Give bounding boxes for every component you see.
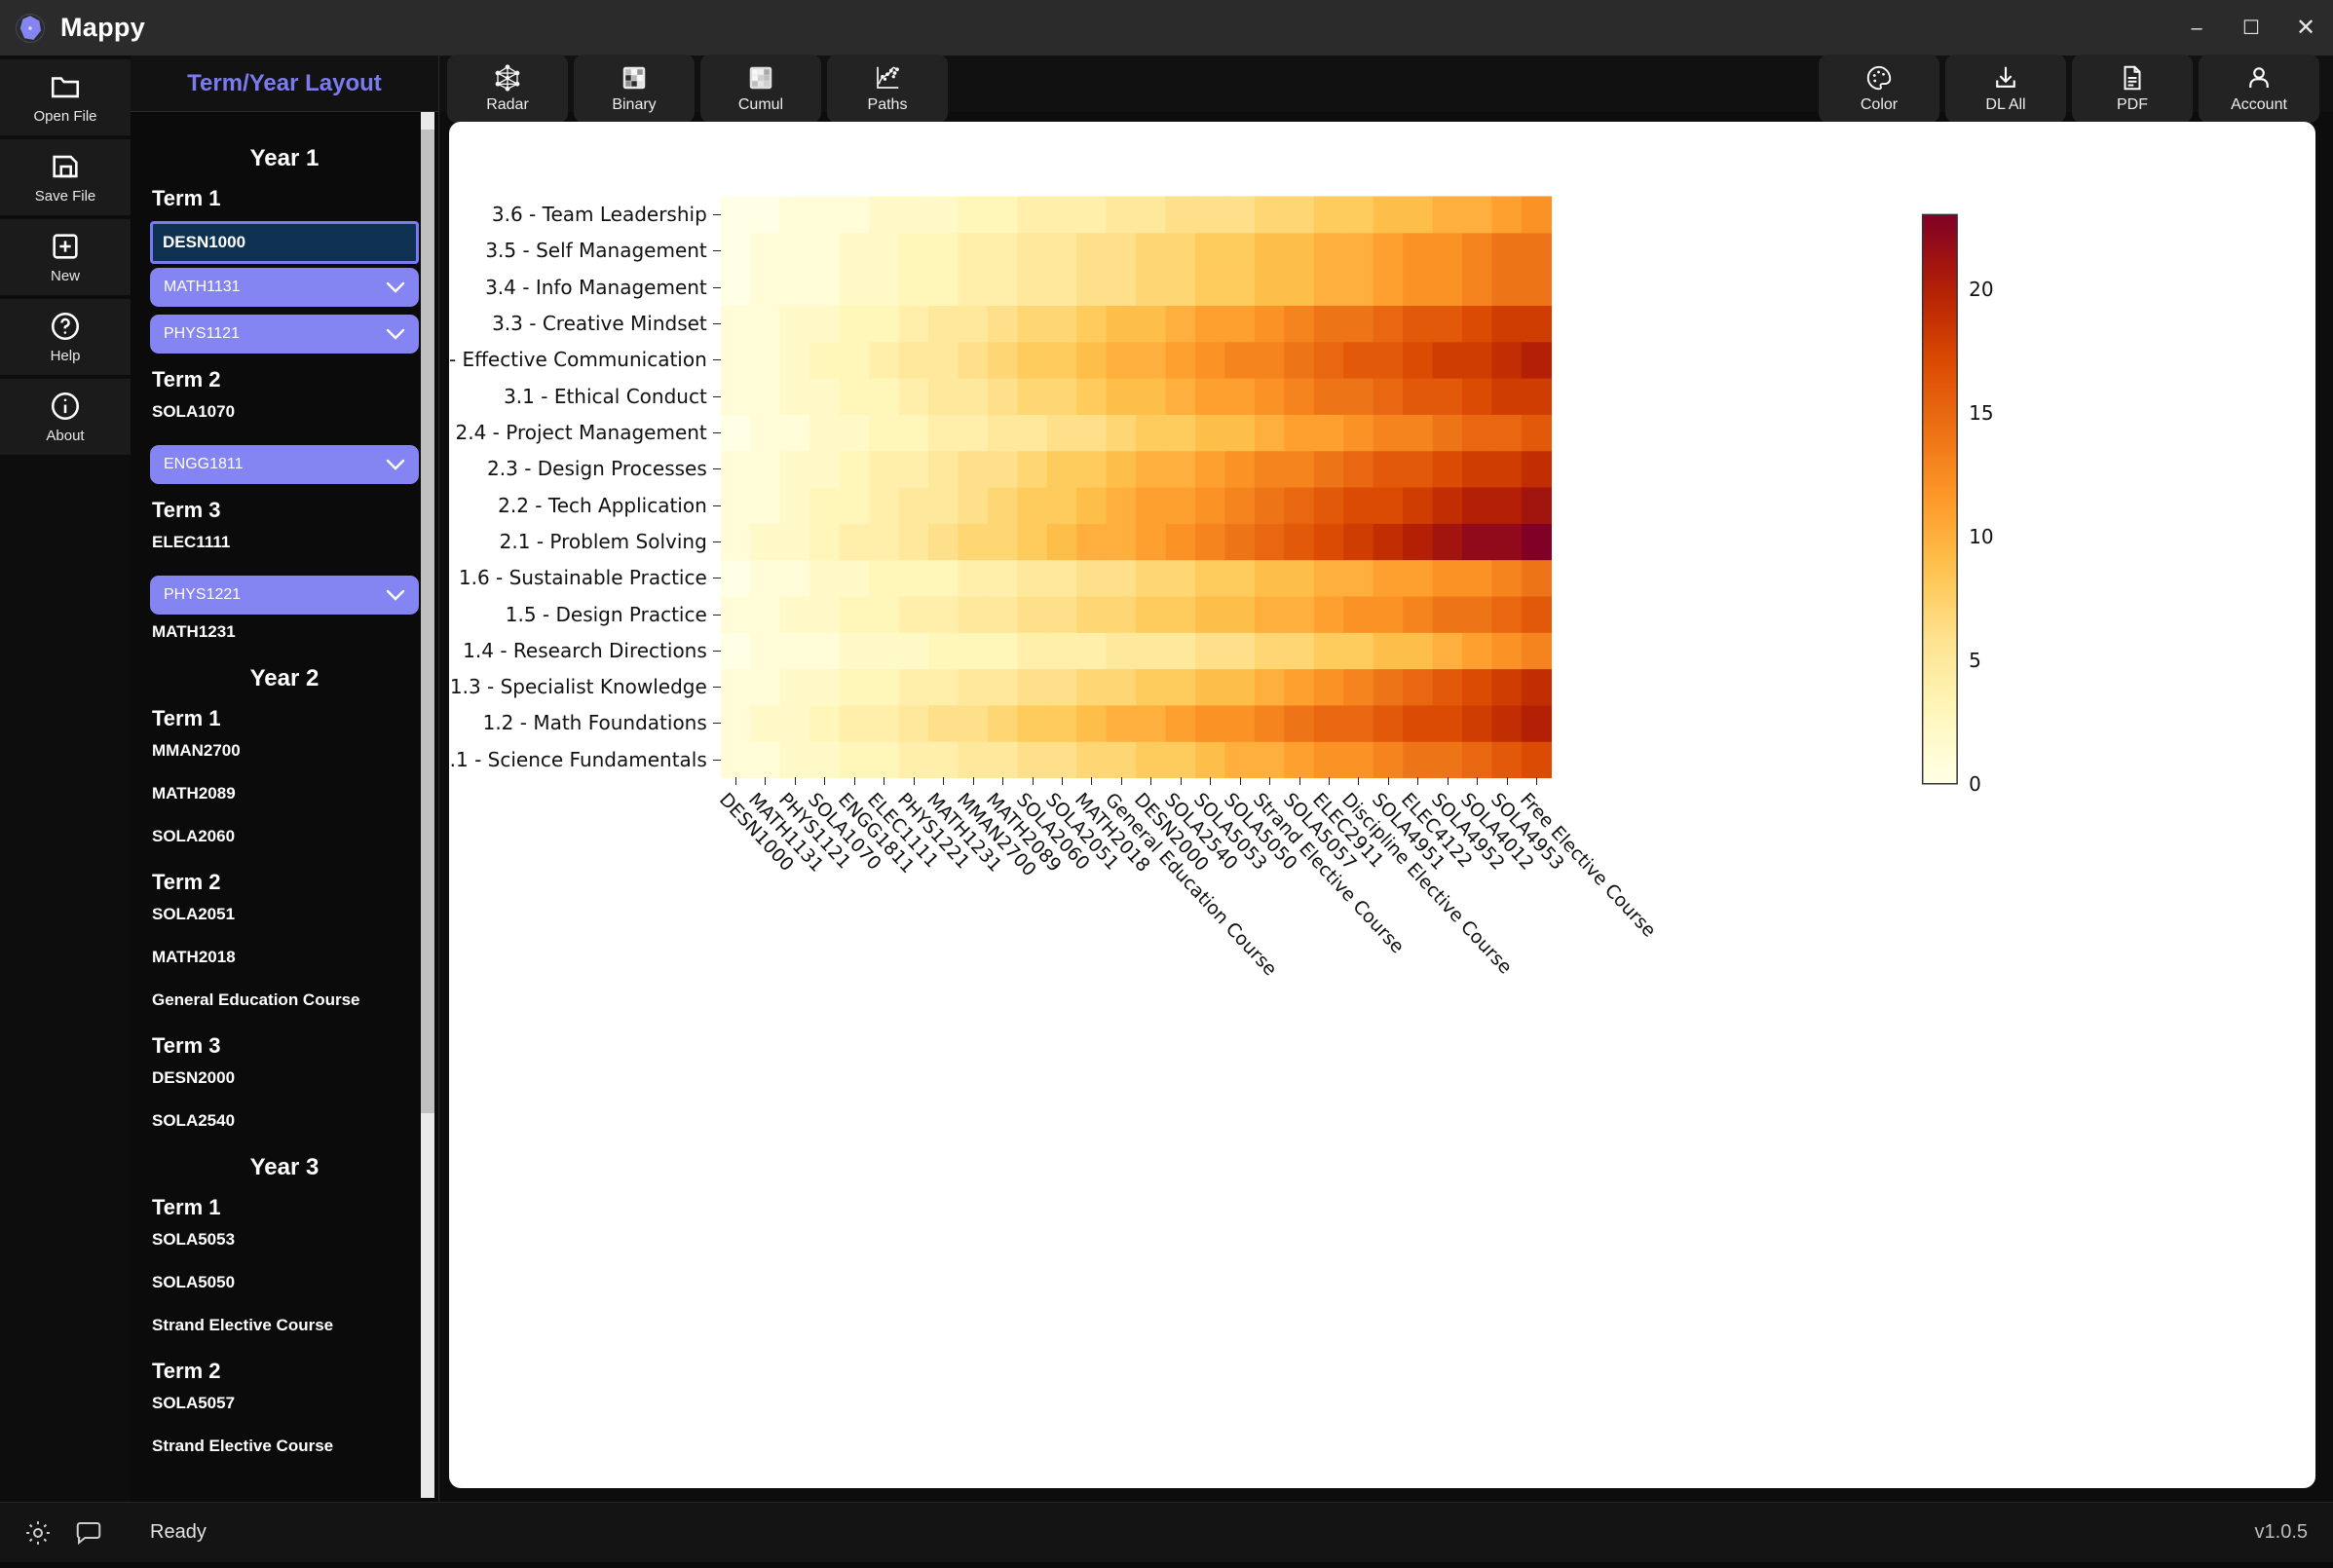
heatmap-cell xyxy=(1491,414,1522,451)
floppy-disk-icon xyxy=(49,150,82,183)
heatmap-cell xyxy=(1491,196,1522,233)
heatmap-cell xyxy=(928,596,959,633)
heatmap-cell xyxy=(898,342,928,379)
heatmap-cell xyxy=(1373,741,1404,778)
course-item[interactable]: MATH2089 xyxy=(152,784,419,803)
heatmap-cell xyxy=(1403,741,1433,778)
chat-bubble-icon[interactable] xyxy=(74,1518,103,1548)
heatmap-y-tick xyxy=(713,651,721,652)
heatmap-cell xyxy=(869,632,899,669)
heatmap-cell xyxy=(1107,632,1137,669)
heatmap-cell xyxy=(809,378,840,415)
heatmap-cell xyxy=(780,414,810,451)
heatmap-y-tick xyxy=(713,432,721,433)
heatmap-cell xyxy=(928,523,959,560)
heatmap-cell xyxy=(1047,414,1077,451)
heatmap-cell xyxy=(958,269,988,306)
toolbar-button-pdf[interactable]: PDF xyxy=(2072,55,2193,123)
heatmap-cell xyxy=(1107,269,1137,306)
sidebar-scroll-area[interactable]: Year 1Term 1DESN1000MATH1131PHYS1121Term… xyxy=(131,112,438,1502)
heatmap-cell xyxy=(721,632,751,669)
course-dropdown-label: ENGG1811 xyxy=(164,456,244,473)
heatmap-cell xyxy=(958,669,988,706)
course-item[interactable]: General Education Course xyxy=(152,990,419,1010)
heatmap-cell xyxy=(1491,451,1522,488)
app-window: Mappy – ☐ ✕ Open File Save File xyxy=(0,0,2333,1568)
heatmap-cell xyxy=(721,451,751,488)
heatmap-y-label: 2.1 - Problem Solving xyxy=(500,530,707,553)
heatmap-cell xyxy=(809,487,840,524)
heatmap-cell xyxy=(840,596,870,633)
heatmap-cell xyxy=(928,705,959,742)
heatmap-cell xyxy=(1017,269,1047,306)
folder-icon xyxy=(49,70,82,103)
heatmap-cell xyxy=(958,741,988,778)
heatmap-cell xyxy=(1017,560,1047,597)
heatmap-cell xyxy=(1433,632,1463,669)
heatmap-x-tick xyxy=(854,777,855,785)
sidebar-year-title: Year 1 xyxy=(150,145,419,172)
heatmap-cell xyxy=(1047,632,1077,669)
heatmap-cell xyxy=(928,632,959,669)
heatmap-cell xyxy=(1343,705,1373,742)
heatmap-cell xyxy=(1522,378,1552,415)
heatmap-cell xyxy=(1166,705,1196,742)
heatmap-cell xyxy=(721,523,751,560)
heatmap-cell xyxy=(1462,523,1492,560)
heatmap-cell xyxy=(928,669,959,706)
heatmap-cell xyxy=(988,596,1018,633)
heatmap-cell xyxy=(1522,269,1552,306)
heatmap-cell xyxy=(780,669,810,706)
heatmap-cell xyxy=(1314,342,1344,379)
heatmap-cell xyxy=(1522,632,1552,669)
course-item[interactable]: MATH1231 xyxy=(152,622,419,642)
heatmap-cell xyxy=(750,741,780,778)
heatmap-cell xyxy=(721,414,751,451)
heatmap-cell xyxy=(1491,632,1522,669)
course-item[interactable]: Strand Elective Course xyxy=(152,1316,419,1335)
heatmap-cell xyxy=(1017,378,1047,415)
heatmap-cell xyxy=(1166,342,1196,379)
heatmap-cell xyxy=(1491,741,1522,778)
heatmap-x-tick xyxy=(765,777,766,785)
heatmap-cell xyxy=(1314,523,1344,560)
heatmap-cell xyxy=(1314,632,1344,669)
course-item[interactable]: SOLA2060 xyxy=(152,827,419,846)
heatmap-cell xyxy=(1343,414,1373,451)
heatmap-cell xyxy=(1522,342,1552,379)
heatmap-cell xyxy=(750,669,780,706)
heatmap-cell xyxy=(1522,560,1552,597)
heatmap-cell xyxy=(1403,378,1433,415)
heatmap-cell xyxy=(809,669,840,706)
heatmap-cell xyxy=(721,487,751,524)
heatmap-x-tick xyxy=(1358,777,1359,785)
document-icon xyxy=(2118,63,2147,93)
heatmap-cell xyxy=(1314,196,1344,233)
heatmap-cell xyxy=(809,741,840,778)
heatmap-cell xyxy=(840,196,870,233)
heatmap-cell xyxy=(1403,196,1433,233)
heatmap-cell xyxy=(1136,632,1166,669)
heatmap-cell xyxy=(1314,705,1344,742)
heatmap-cell xyxy=(840,741,870,778)
heatmap-x-tick xyxy=(1299,777,1300,785)
heatmap-cell xyxy=(1166,378,1196,415)
heatmap-cell xyxy=(869,523,899,560)
heatmap-x-tick xyxy=(824,777,825,785)
heatmap-cell xyxy=(721,269,751,306)
heatmap-cell xyxy=(1314,596,1344,633)
toolbar-button-cumul[interactable]: Cumul xyxy=(700,55,821,123)
heatmap-cell xyxy=(1017,705,1047,742)
heatmap-cell xyxy=(1224,196,1255,233)
heatmap-cell xyxy=(1373,451,1404,488)
heatmap-cell xyxy=(1136,451,1166,488)
heatmap-y-label: 3.4 - Info Management xyxy=(485,276,707,299)
heatmap-cell xyxy=(958,596,988,633)
heatmap-cell xyxy=(1314,305,1344,342)
heatmap-cell xyxy=(898,378,928,415)
heatmap-cell xyxy=(1373,342,1404,379)
toolbar-button-radar[interactable]: Radar xyxy=(447,55,568,123)
heatmap-cell xyxy=(869,669,899,706)
heatmap-cell xyxy=(1076,451,1107,488)
heatmap-cell xyxy=(1224,560,1255,597)
heatmap-cell xyxy=(1284,378,1314,415)
heatmap-plot[interactable]: 1.1 - Science Fundamentals1.2 - Math Fou… xyxy=(449,122,2315,1488)
heatmap-x-tick xyxy=(1002,777,1003,785)
heatmap-cell xyxy=(988,669,1018,706)
heatmap-cell xyxy=(958,414,988,451)
heatmap-cell xyxy=(1522,741,1552,778)
heatmap-cell xyxy=(721,378,751,415)
rail-item-help[interactable]: Help xyxy=(0,299,131,375)
heatmap-cell xyxy=(1166,451,1196,488)
heatmap-cell xyxy=(928,196,959,233)
heatmap-cell xyxy=(1166,596,1196,633)
heatmap-cell xyxy=(809,523,840,560)
heatmap-cell xyxy=(1433,487,1463,524)
heatmap-cell xyxy=(1017,632,1047,669)
heatmap-cell xyxy=(780,523,810,560)
heatmap-cell xyxy=(780,705,810,742)
heatmap-cell xyxy=(780,196,810,233)
toolbar-button-binary[interactable]: Binary xyxy=(574,55,695,123)
heatmap-cell xyxy=(1462,196,1492,233)
heatmap-cell xyxy=(809,305,840,342)
body-row: Open File Save File New H xyxy=(0,56,2333,1502)
heatmap-x-tick xyxy=(914,777,915,785)
heatmap-cell xyxy=(898,269,928,306)
heatmap-cell xyxy=(1076,523,1107,560)
heatmap-cell xyxy=(1107,414,1137,451)
heatmap-cell xyxy=(928,378,959,415)
course-dropdown[interactable]: ENGG1811 xyxy=(150,445,419,484)
heatmap-cell xyxy=(1491,669,1522,706)
heatmap-cell xyxy=(869,269,899,306)
sidebar-year-title: Year 3 xyxy=(150,1154,419,1181)
heatmap-cell xyxy=(840,451,870,488)
heatmap-x-tick xyxy=(1033,777,1034,785)
heatmap-cell xyxy=(1107,741,1137,778)
heatmap-cell xyxy=(1433,269,1463,306)
heatmap-cell xyxy=(1195,451,1225,488)
toolbar-left-group: Radar xyxy=(447,45,948,123)
heatmap-cell xyxy=(1224,269,1255,306)
heatmap-cell xyxy=(1076,669,1107,706)
heatmap-cell xyxy=(1076,741,1107,778)
heatmap-cell xyxy=(1403,705,1433,742)
main-area: Radar xyxy=(439,56,2333,1502)
heatmap-cell xyxy=(1373,560,1404,597)
heatmap-cell xyxy=(898,487,928,524)
course-item[interactable]: DESN2000 xyxy=(152,1068,419,1088)
heatmap-cell xyxy=(1166,305,1196,342)
heatmap-cell xyxy=(898,705,928,742)
heatmap-cell xyxy=(958,342,988,379)
heatmap-cell xyxy=(809,342,840,379)
heatmap-cell xyxy=(1255,378,1285,415)
course-item[interactable]: SOLA5057 xyxy=(152,1394,419,1413)
heatmap-cell xyxy=(1403,523,1433,560)
heatmap-x-tick xyxy=(1240,777,1241,785)
heatmap-cell xyxy=(750,305,780,342)
heatmap-cell xyxy=(1076,414,1107,451)
heatmap-cell xyxy=(1343,741,1373,778)
heatmap-cell xyxy=(898,560,928,597)
heatmap-y-label: 2.3 - Design Processes xyxy=(487,457,707,480)
heatmap-y-tick xyxy=(713,287,721,288)
course-item-selected[interactable]: DESN1000 xyxy=(150,221,419,264)
heatmap-x-tick xyxy=(1448,777,1449,785)
heatmap-y-label: 3.5 - Self Management xyxy=(485,239,706,262)
course-item[interactable]: ELEC1111 xyxy=(152,533,419,552)
heatmap-cell xyxy=(1047,196,1077,233)
heatmap-cell xyxy=(988,523,1018,560)
colorbar-tick-label: 0 xyxy=(1969,772,1981,796)
heatmap-cell xyxy=(1522,669,1552,706)
heatmap-cell xyxy=(1491,342,1522,379)
toolbar-button-color[interactable]: Color xyxy=(1819,55,1939,123)
heatmap-cell xyxy=(750,523,780,560)
heatmap-cell xyxy=(1343,196,1373,233)
heatmap-cell xyxy=(1195,669,1225,706)
rail-item-save-file[interactable]: Save File xyxy=(0,139,131,215)
heatmap-x-tick xyxy=(1091,777,1092,785)
sidebar-term-title: Term 1 xyxy=(152,706,419,731)
heatmap-cell xyxy=(1224,305,1255,342)
heatmap-cell xyxy=(1403,342,1433,379)
heatmap-cell xyxy=(1047,233,1077,270)
radar-blob-logo-icon xyxy=(14,12,47,45)
heatmap-x-tick xyxy=(1150,777,1151,785)
info-circle-icon xyxy=(49,390,82,423)
heatmap-cell xyxy=(869,487,899,524)
rail-label-help: Help xyxy=(51,348,81,364)
heatmap-cell xyxy=(928,414,959,451)
course-item[interactable]: SOLA5053 xyxy=(152,1230,419,1250)
course-item[interactable]: MMAN2700 xyxy=(152,741,419,761)
course-item[interactable]: SOLA5050 xyxy=(152,1273,419,1292)
heatmap-cell xyxy=(1284,414,1314,451)
rail-item-open-file[interactable]: Open File xyxy=(0,59,131,135)
course-item[interactable]: SOLA1070 xyxy=(152,402,419,422)
radar-network-icon xyxy=(493,63,522,93)
heatmap-y-tick xyxy=(713,250,721,251)
course-item[interactable]: Strand Elective Course xyxy=(152,1437,419,1456)
heatmap-cell xyxy=(1195,305,1225,342)
heatmap-cell xyxy=(1373,596,1404,633)
course-item[interactable]: SOLA2051 xyxy=(152,905,419,924)
heatmap-cell xyxy=(898,451,928,488)
heatmap-cell xyxy=(1255,596,1285,633)
cumulative-grid-icon xyxy=(746,63,775,93)
heatmap-cell xyxy=(928,487,959,524)
heatmap-cell xyxy=(1284,669,1314,706)
heatmap-cell xyxy=(1522,451,1552,488)
toolbar-button-dl-all[interactable]: DL All xyxy=(1945,55,2066,123)
heatmap-cell xyxy=(1462,741,1492,778)
toolbar-button-account[interactable]: Account xyxy=(2199,55,2319,123)
heatmap-cell xyxy=(1433,196,1463,233)
chevron-down-icon xyxy=(386,589,405,601)
heatmap-cell xyxy=(780,596,810,633)
bottom-strip xyxy=(0,1562,2333,1568)
heatmap-cell xyxy=(721,741,751,778)
heatmap-cell xyxy=(840,342,870,379)
course-dropdown[interactable]: PHYS1121 xyxy=(150,315,419,354)
heatmap-cell xyxy=(780,741,810,778)
heatmap-cell xyxy=(750,705,780,742)
heatmap-cell xyxy=(1047,451,1077,488)
paths-scatter-icon xyxy=(873,63,902,93)
heatmap-cell xyxy=(1255,305,1285,342)
heatmap-cell xyxy=(1343,560,1373,597)
heatmap-y-label: 1.2 - Math Foundations xyxy=(483,711,707,734)
heatmap-cell xyxy=(1195,560,1225,597)
heatmap-cell xyxy=(898,596,928,633)
heatmap-cell xyxy=(1076,632,1107,669)
heatmap-cell xyxy=(750,560,780,597)
heatmap-cell xyxy=(1076,196,1107,233)
heatmap-y-tick xyxy=(713,359,721,360)
heatmap-cell xyxy=(988,342,1018,379)
heatmap-cell xyxy=(1433,705,1463,742)
heatmap-cell xyxy=(840,305,870,342)
toolbar: Radar xyxy=(439,56,2333,112)
heatmap-cell xyxy=(1284,305,1314,342)
heatmap-cell xyxy=(1284,632,1314,669)
course-dropdown[interactable]: MATH1131 xyxy=(150,268,419,307)
heatmap-cell xyxy=(1017,741,1047,778)
rail-label-open-file: Open File xyxy=(33,108,96,125)
heatmap-cell xyxy=(1047,487,1077,524)
status-bar: Ready v1.0.5 xyxy=(0,1502,2333,1562)
heatmap-y-label: 3.2 - Effective Communication xyxy=(449,348,707,371)
course-dropdown[interactable]: PHYS1221 xyxy=(150,576,419,615)
app-logo xyxy=(0,12,60,45)
heatmap-cell xyxy=(1373,378,1404,415)
heatmap-cell xyxy=(1107,233,1137,270)
heatmap-cell xyxy=(1462,560,1492,597)
heatmap-cell xyxy=(1255,342,1285,379)
heatmap-cell xyxy=(1107,378,1137,415)
left-rail: Open File Save File New H xyxy=(0,56,131,1502)
heatmap-cell xyxy=(928,342,959,379)
rail-item-about[interactable]: About xyxy=(0,379,131,455)
heatmap-cell xyxy=(1166,196,1196,233)
heatmap-cell xyxy=(1224,596,1255,633)
course-item[interactable]: SOLA2540 xyxy=(152,1111,419,1131)
gear-icon[interactable] xyxy=(23,1518,53,1548)
heatmap-x-tick xyxy=(884,777,884,785)
heatmap-cell xyxy=(1491,487,1522,524)
heatmap-cell xyxy=(988,560,1018,597)
heatmap-x-tick xyxy=(943,777,944,785)
heatmap-cell xyxy=(1255,560,1285,597)
heatmap-cell xyxy=(869,560,899,597)
chevron-down-icon xyxy=(386,459,405,470)
rail-item-new[interactable]: New xyxy=(0,219,131,295)
heatmap-x-tick xyxy=(735,777,736,785)
heatmap-cell xyxy=(1047,523,1077,560)
heatmap-cell xyxy=(1224,451,1255,488)
heatmap-cell xyxy=(1017,305,1047,342)
heatmap-cell xyxy=(1373,233,1404,270)
heatmap-cell xyxy=(1017,451,1047,488)
heatmap-y-label: 3.6 - Team Leadership xyxy=(492,203,707,226)
heatmap-cell xyxy=(1491,523,1522,560)
colorbar-tick-label: 5 xyxy=(1969,649,1981,672)
course-item[interactable]: MATH2018 xyxy=(152,948,419,967)
sidebar: Term/Year Layout Year 1Term 1DESN1000MAT… xyxy=(131,56,439,1502)
heatmap-cell xyxy=(721,233,751,270)
course-dropdown-label: MATH1131 xyxy=(164,279,241,296)
sidebar-term-title: Term 1 xyxy=(152,1195,419,1220)
heatmap-cell xyxy=(1284,233,1314,270)
heatmap-cell xyxy=(1224,523,1255,560)
heatmap-cell xyxy=(869,414,899,451)
heatmap-cell xyxy=(1284,523,1314,560)
heatmap-cell xyxy=(840,705,870,742)
heatmap-cell xyxy=(958,305,988,342)
heatmap-cell xyxy=(958,705,988,742)
heatmap-cell xyxy=(1522,596,1552,633)
course-dropdown-label: PHYS1121 xyxy=(164,325,240,343)
heatmap-cell xyxy=(988,233,1018,270)
scrollbar-thumb[interactable] xyxy=(421,130,434,1113)
toolbar-button-paths[interactable]: Paths xyxy=(827,55,948,123)
heatmap-cell xyxy=(809,269,840,306)
heatmap-cell xyxy=(1373,705,1404,742)
heatmap-cell xyxy=(1047,342,1077,379)
heatmap-cell xyxy=(780,342,810,379)
heatmap-cell xyxy=(1166,414,1196,451)
heatmap-cell xyxy=(1255,669,1285,706)
heatmap-cell xyxy=(721,342,751,379)
sidebar-header-title: Term/Year Layout xyxy=(187,70,382,97)
heatmap-x-tick xyxy=(973,777,974,785)
chevron-down-icon xyxy=(386,281,405,293)
heatmap-cell xyxy=(869,233,899,270)
heatmap-cell xyxy=(1107,487,1137,524)
heatmap-cell xyxy=(750,487,780,524)
heatmap-cell xyxy=(1433,669,1463,706)
heatmap-x-tick xyxy=(1507,777,1508,785)
heatmap-cell xyxy=(721,305,751,342)
